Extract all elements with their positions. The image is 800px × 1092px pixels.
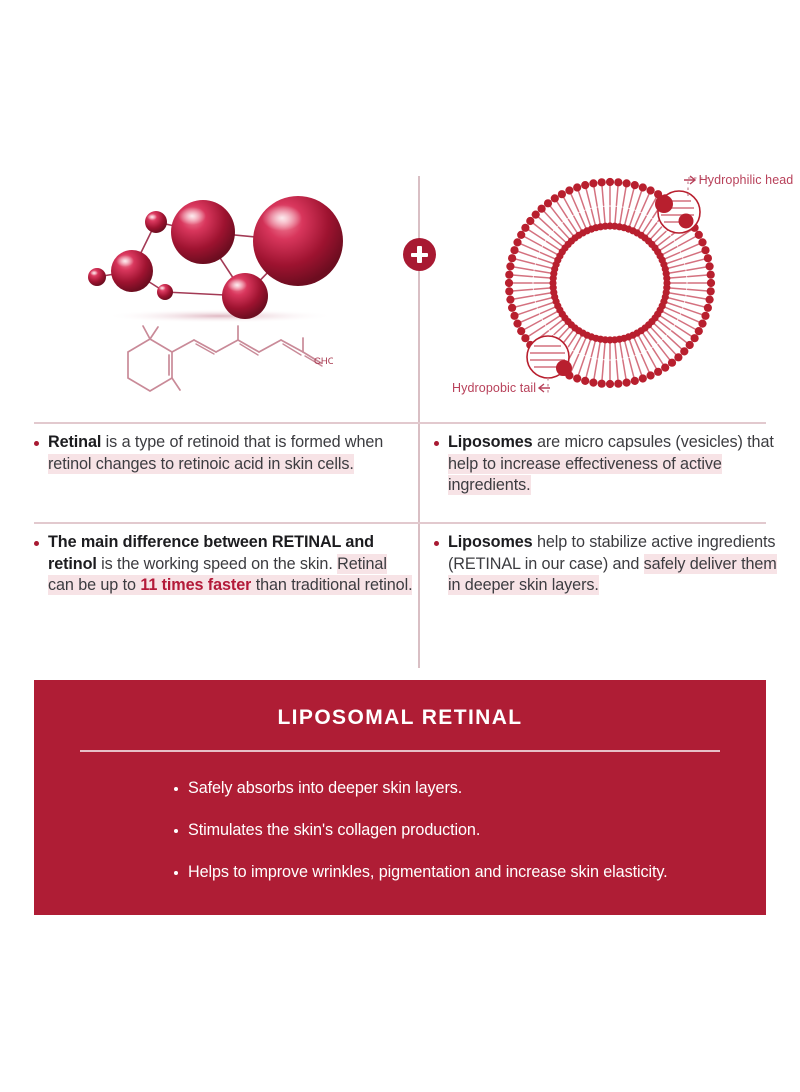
retinal-skeletal-formula: CHO <box>118 322 333 394</box>
summary-benefit-list: Safely absorbs into deeper skin layers.S… <box>34 752 766 884</box>
bullet-dot-icon <box>34 541 39 546</box>
hydrophilic-head-label: Hydrophilic head <box>698 173 794 188</box>
summary-benefit-item: Stimulates the skin's collagen productio… <box>174 820 694 842</box>
bullet-text: Retinal is a type of retinoid that is fo… <box>48 432 414 475</box>
hydrophilic-arrow-icon <box>684 174 698 186</box>
bullet-dot-icon <box>174 871 178 875</box>
divider-middle <box>34 522 766 524</box>
bullet-retinal-speed: The main difference between RETINAL and … <box>34 532 414 597</box>
retinal-molecule-diagram <box>70 175 370 325</box>
bullet-dot-icon <box>434 441 439 446</box>
liposome-diagram <box>495 168 725 398</box>
summary-benefit-item: Safely absorbs into deeper skin layers. <box>174 778 694 800</box>
diagram-area: CHO <box>0 0 800 423</box>
bullet-text: Liposomes are micro capsules (vesicles) … <box>448 432 774 497</box>
divider-top <box>34 422 766 424</box>
bullet-dot-icon <box>434 541 439 546</box>
hydrophobic-tail-label: Hydropobic tail <box>452 381 536 396</box>
hydrophobic-arrow-icon <box>536 382 550 394</box>
bullet-dot-icon <box>174 829 178 833</box>
bullet-dot-icon <box>174 787 178 791</box>
summary-benefit-text: Safely absorbs into deeper skin layers. <box>188 778 462 800</box>
bullet-text: Liposomes help to stabilize active ingre… <box>448 532 779 597</box>
summary-benefit-text: Helps to improve wrinkles, pigmentation … <box>188 862 668 884</box>
summary-benefit-item: Helps to improve wrinkles, pigmentation … <box>174 862 694 884</box>
bullet-dot-icon <box>34 441 39 446</box>
bullet-text: The main difference between RETINAL and … <box>48 532 414 597</box>
summary-title: LIPOSOMAL RETINAL <box>34 680 766 730</box>
bullet-liposome-delivery: Liposomes help to stabilize active ingre… <box>434 532 779 597</box>
bullet-retinal-definition: Retinal is a type of retinoid that is fo… <box>34 432 414 475</box>
hydrophobic-zoom-circle <box>527 336 572 378</box>
molecule-caption: CHO <box>314 356 333 367</box>
summary-panel: LIPOSOMAL RETINAL Safely absorbs into de… <box>34 680 766 915</box>
summary-benefit-text: Stimulates the skin's collagen productio… <box>188 820 480 842</box>
plus-combine-icon <box>403 238 436 271</box>
bullet-liposome-definition: Liposomes are micro capsules (vesicles) … <box>434 432 774 497</box>
